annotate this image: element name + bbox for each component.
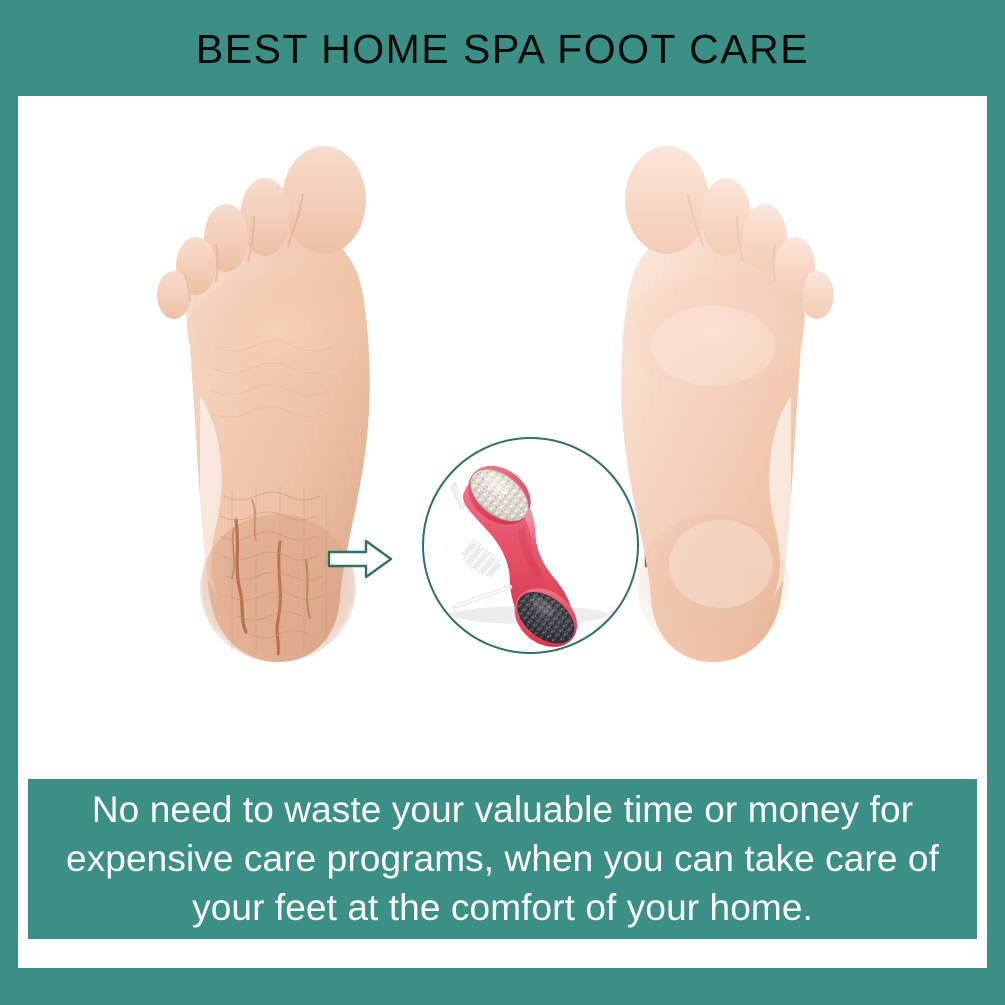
arrow-right-icon xyxy=(326,536,394,582)
before-foot-illustration xyxy=(128,96,428,696)
comparison-panel: BEFORE AFTER xyxy=(18,96,987,773)
caption-banner-frame: No need to waste your valuable time or m… xyxy=(18,773,987,968)
after-big-toe xyxy=(625,146,709,254)
before-foot-image xyxy=(128,96,428,696)
arrow-before-to-tool xyxy=(326,536,394,582)
caption-banner: No need to waste your valuable time or m… xyxy=(28,779,977,939)
caption-text: No need to waste your valuable time or m… xyxy=(38,785,968,932)
after-foot-illustration xyxy=(563,96,863,696)
after-foot-image xyxy=(563,96,863,696)
tool-bristle-brush xyxy=(459,540,502,582)
page-title: BEST HOME SPA FOOT CARE xyxy=(196,29,809,70)
poster-header: BEST HOME SPA FOOT CARE xyxy=(0,0,1005,96)
poster-root: BEST HOME SPA FOOT CARE xyxy=(0,0,1005,1005)
before-big-toe xyxy=(282,146,366,254)
